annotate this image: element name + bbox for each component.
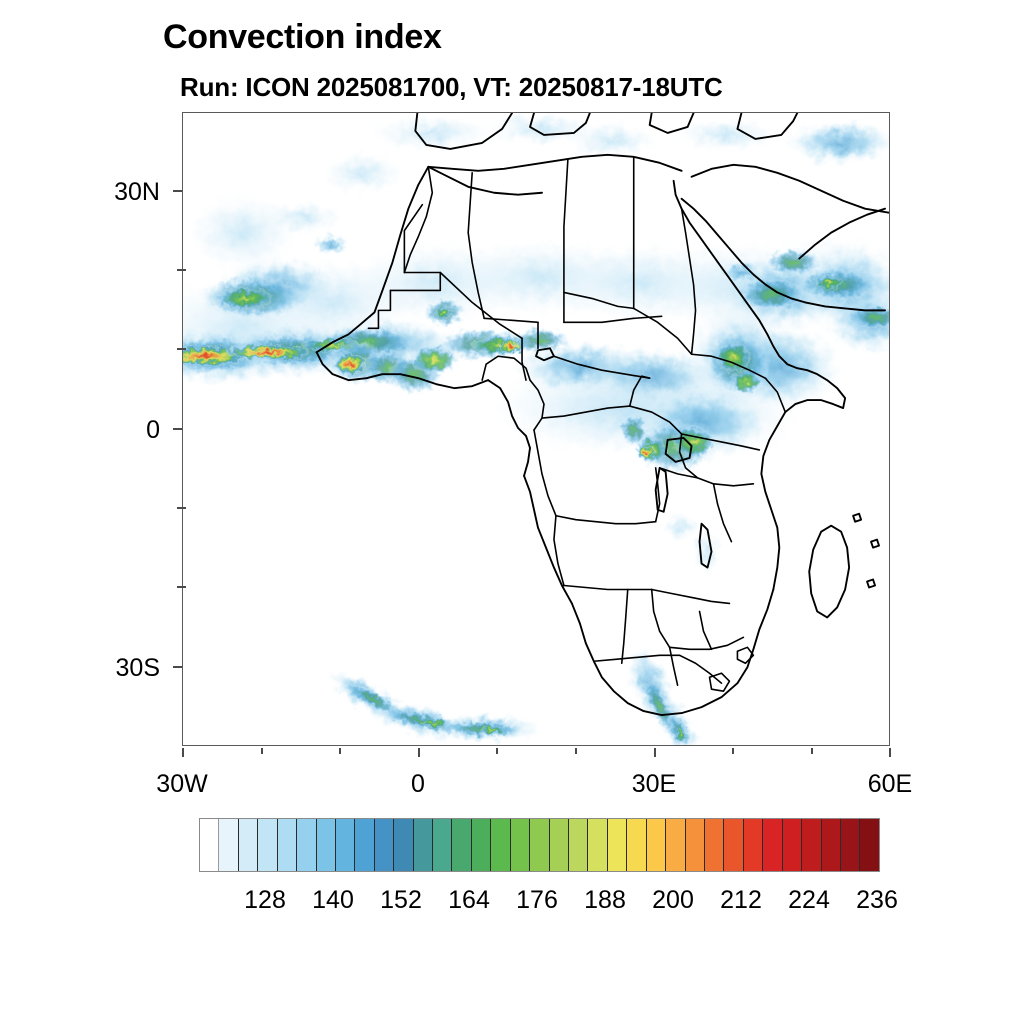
x-tick-10E [496,748,498,754]
colorbar-cell-8 [355,819,374,871]
colorbar-cell-0 [200,819,219,871]
y-tick-10N [177,348,186,350]
colorbar-cell-11 [414,819,433,871]
colorbar-cell-32 [822,819,841,871]
colorbar-cell-1 [219,819,238,871]
colorbar-cell-14 [472,819,491,871]
colorbar-cell-27 [724,819,743,871]
colorbar-cell-17 [530,819,549,871]
colorbar-cell-34 [860,819,878,871]
convection-field-layer [183,113,889,745]
colorbar-cell-18 [550,819,569,871]
colorbar-cell-23 [647,819,666,871]
y-tick-10S [177,507,186,509]
colorbar-cell-12 [433,819,452,871]
y-tick-30S [173,666,182,668]
run-valid-time-subtitle: Run: ICON 2025081700, VT: 20250817-18UTC [180,72,723,103]
convection-index-figure: Convection index Run: ICON 2025081700, V… [0,0,1024,1024]
y-tick-0 [173,428,182,430]
colorbar-cell-25 [686,819,705,871]
y-axis-label-0: 0 [60,416,160,445]
colorbar-cell-30 [783,819,802,871]
colorbar-cell-9 [375,819,394,871]
map-canvas [183,113,889,745]
colorbar-cell-7 [336,819,355,871]
colorbar-label-236: 236 [827,886,927,915]
colorbar-cell-6 [317,819,336,871]
x-tick-60E [889,748,891,757]
colorbar-cell-24 [666,819,685,871]
colorbar[interactable] [199,818,880,872]
colorbar-cell-4 [278,819,297,871]
colorbar-cell-16 [511,819,530,871]
colorbar-cell-5 [297,819,316,871]
colorbar-cell-26 [705,819,724,871]
x-tick-30E [654,748,656,757]
map-plot-area[interactable] [182,112,890,746]
x-tick-20W [261,748,263,754]
y-tick-20S [177,586,186,588]
x-axis-label-30W: 30W [122,770,242,799]
y-axis-label-30N: 30N [60,178,160,207]
x-tick-50E [811,748,813,754]
page-title: Convection index [163,18,442,57]
x-axis-label-0: 0 [358,770,478,799]
colorbar-cell-28 [744,819,763,871]
colorbar-cell-19 [569,819,588,871]
y-tick-30N [173,190,182,192]
colorbar-cell-20 [588,819,607,871]
colorbar-cell-10 [394,819,413,871]
x-tick-10W [339,748,341,754]
colorbar-cell-31 [802,819,821,871]
colorbar-cell-22 [627,819,646,871]
x-tick-40E [732,748,734,754]
x-axis-label-60E: 60E [830,770,950,799]
y-axis-label-30S: 30S [60,654,160,683]
x-tick-0 [418,748,420,757]
colorbar-cell-13 [452,819,471,871]
colorbar-cell-15 [491,819,510,871]
colorbar-cell-33 [841,819,860,871]
colorbar-cell-3 [258,819,277,871]
colorbar-cell-29 [763,819,782,871]
y-tick-20N [177,269,186,271]
x-tick-30W [182,748,184,757]
x-tick-20E [575,748,577,754]
x-axis-label-30E: 30E [594,770,714,799]
colorbar-cell-2 [239,819,258,871]
colorbar-cell-21 [608,819,627,871]
